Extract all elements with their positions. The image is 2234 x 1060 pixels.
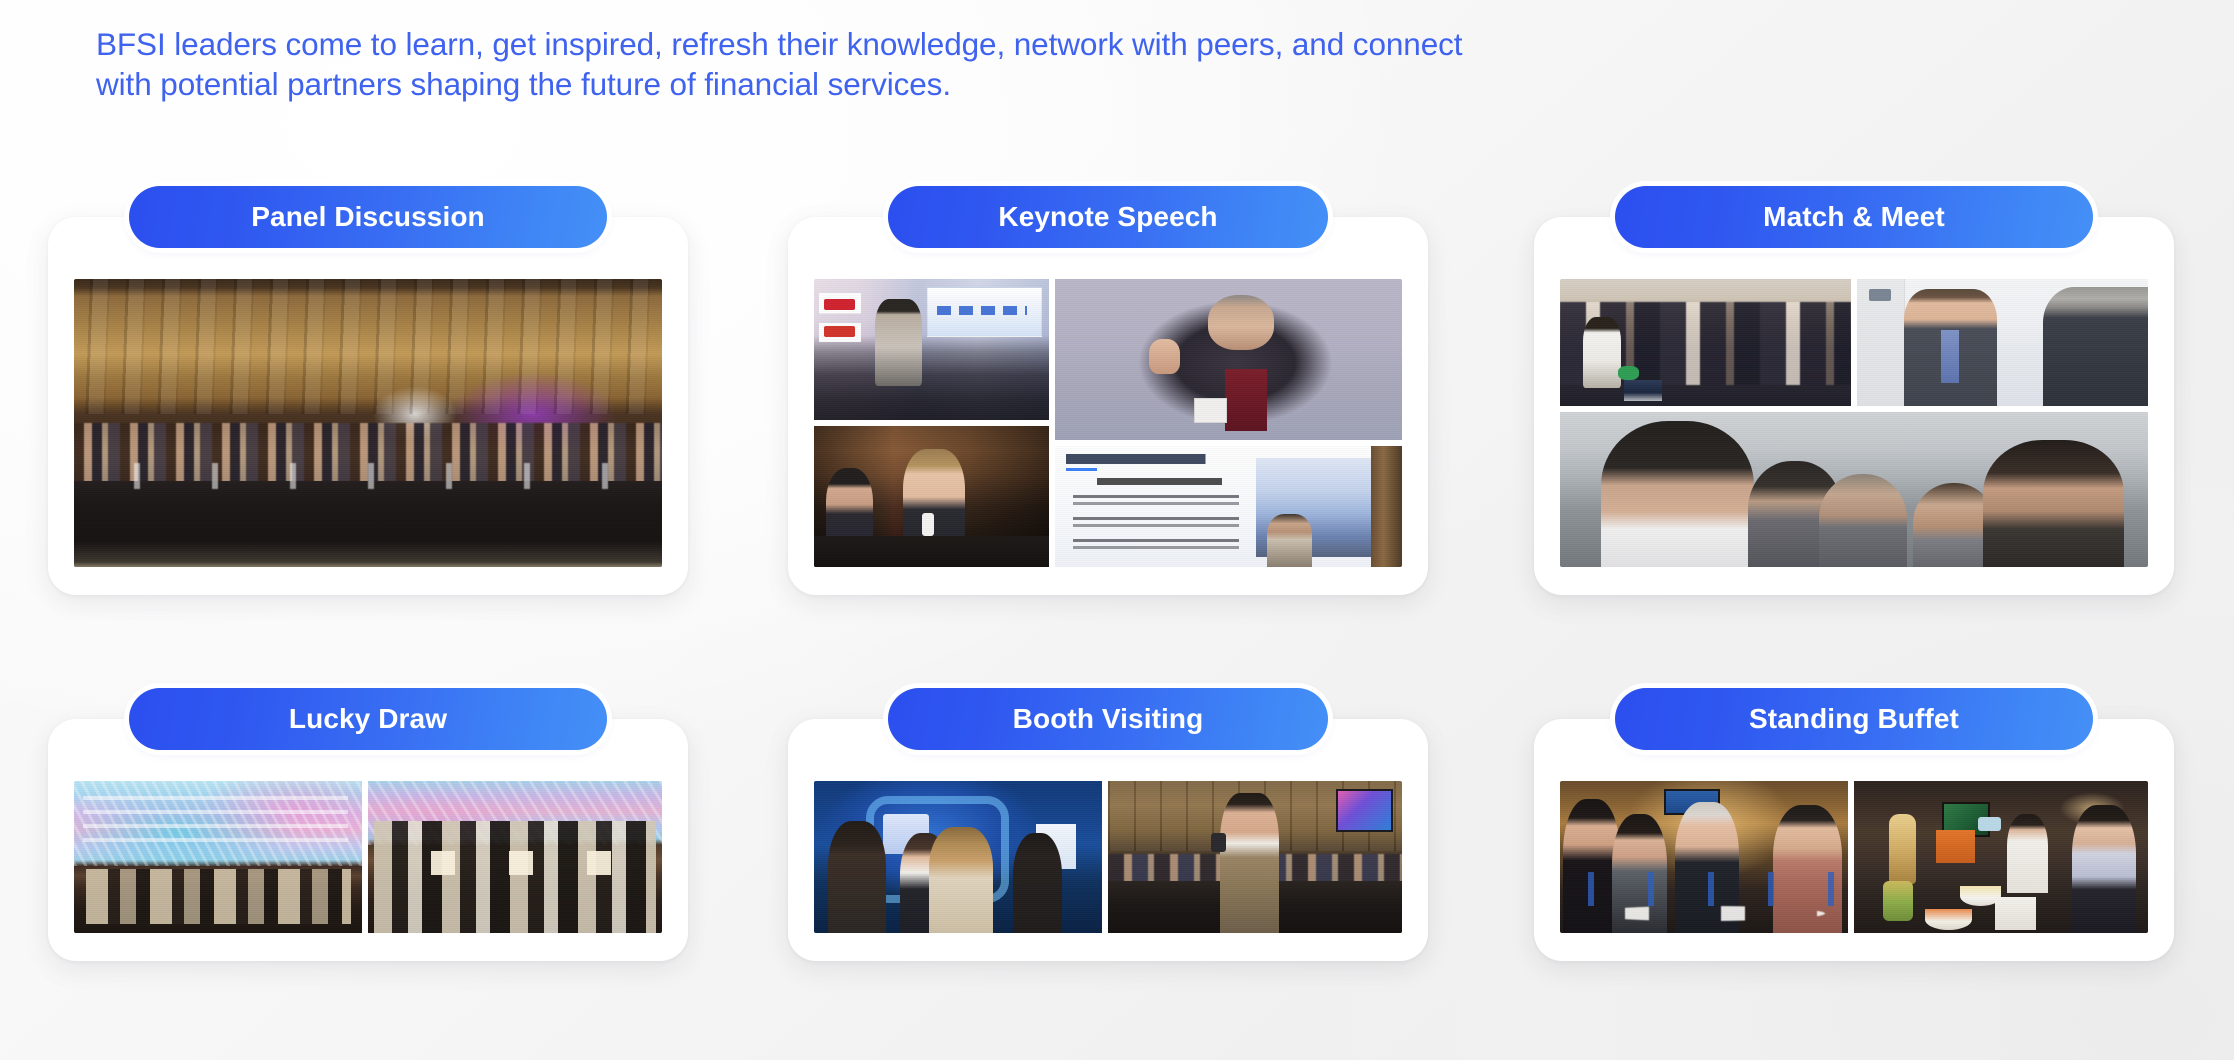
photo-one-on-one-meeting [1857, 279, 2148, 406]
mingling-guest-3 [1675, 802, 1738, 933]
close-conversation-photo [1560, 412, 2148, 567]
photo-delegates-mingling [1560, 781, 1848, 933]
stage-seated-panel [86, 869, 351, 924]
slide-room-wall [1371, 446, 1402, 567]
podium-speaker-photo [814, 279, 1049, 420]
keynote-speaker-photo [1055, 279, 1402, 440]
meeting-participant-facing [1904, 289, 1997, 406]
photo-award-winners [368, 781, 662, 933]
roaming-host-figure [1220, 793, 1279, 933]
photo-close-conversation [1560, 412, 2148, 567]
networking-crowd [1560, 302, 1851, 386]
buffet-jar-2 [1883, 881, 1912, 921]
photo-ballroom-audience [74, 279, 662, 567]
booth-visitor-2 [929, 827, 992, 933]
podium-presentation-screen [927, 287, 1042, 337]
session-room-screen [1336, 789, 1393, 833]
photo-roaming-host [1108, 781, 1402, 933]
collage-match-and-meet [1560, 279, 2148, 567]
conversation-person-1 [1601, 421, 1754, 567]
buffet-warm-light [2054, 790, 2130, 826]
stage-backdrop-text [83, 796, 348, 848]
card-match-and-meet [1534, 217, 2174, 595]
audience-table [814, 536, 1049, 567]
award-certificates [397, 851, 644, 875]
buffet-chafing-box [1936, 830, 1974, 863]
networking-floor-photo [1560, 279, 1851, 406]
ballroom-audience-photo [74, 279, 662, 567]
mingling-guest-1 [1563, 799, 1621, 933]
highlight-block-standing-buffet: Standing Buffet [1534, 688, 2174, 961]
conversation-person-3 [1819, 474, 1907, 567]
buffet-bowl-2 [1925, 909, 1972, 930]
collage-standing-buffet [1560, 781, 2148, 933]
exhibition-booth-photo [814, 781, 1102, 933]
one-on-one-meeting-photo [1857, 279, 2148, 406]
slide-title-text [1066, 454, 1260, 465]
photo-audience-question [814, 426, 1049, 567]
speaker-raised-finger [1149, 339, 1180, 374]
session-seated-delegates [1108, 854, 1402, 887]
pill-panel-discussion[interactable]: Panel Discussion [129, 186, 607, 248]
speaker-shirt [1225, 369, 1267, 430]
highlight-block-panel-discussion: Panel Discussion [48, 186, 688, 595]
card-panel-discussion [48, 217, 688, 595]
audience-figure-left [826, 468, 873, 547]
booth-visitor-1 [828, 821, 886, 933]
highlight-block-lucky-draw: Lucky Draw [48, 688, 688, 961]
highlight-block-keynote-speech: Keynote Speech [788, 186, 1428, 595]
highlight-block-booth-visiting: Booth Visiting [788, 688, 1428, 961]
roaming-host-photo [1108, 781, 1402, 933]
ballroom-glassware [98, 463, 639, 489]
green-signage [1618, 366, 1638, 380]
buffet-guest-serving [2072, 805, 2137, 933]
networking-attendee [1583, 317, 1621, 388]
booth-display-screen [883, 814, 929, 854]
sponsor-logo-wall [819, 293, 861, 372]
stage-panel-photo [74, 781, 362, 933]
audience-figure-right [903, 449, 964, 553]
slide-inset-image [1256, 458, 1395, 557]
photo-stage-panel [74, 781, 362, 933]
event-highlights-page: BFSI leaders come to learn, get inspired… [0, 0, 2234, 1060]
collage-keynote-speech [814, 279, 1402, 567]
collage-panel-discussion [74, 279, 662, 567]
slide-bullet-list [1073, 495, 1239, 551]
meeting-room-wall [1857, 279, 1905, 406]
buffet-jar-1 [1889, 814, 1915, 884]
pill-match-and-meet[interactable]: Match & Meet [1615, 186, 2093, 248]
pill-wrap-match-and-meet: Match & Meet [1534, 186, 2174, 248]
registration-laptop [1624, 380, 1662, 400]
guest-lanyards [1560, 872, 1848, 905]
meeting-participant-back [2043, 287, 2148, 406]
award-backdrop-graphic [368, 781, 662, 845]
roaming-host-microphone [1211, 833, 1226, 853]
pill-wrap-panel-discussion: Panel Discussion [48, 186, 688, 248]
guest-plates [1583, 906, 1825, 921]
pill-wrap-standing-buffet: Standing Buffet [1534, 688, 2174, 750]
highlight-grid: Panel Discussion Keyno [0, 0, 2234, 1060]
pill-lucky-draw[interactable]: Lucky Draw [129, 688, 607, 750]
reception-room-screen [1664, 789, 1720, 816]
slide-subtitle-text [1097, 478, 1236, 485]
award-winners-photo [368, 781, 662, 933]
keynote-left-column [814, 279, 1049, 567]
photo-exhibition-booth [814, 781, 1102, 933]
booth-visitor-3 [1013, 833, 1062, 933]
buffet-riser-stand [1995, 897, 2036, 930]
card-keynote-speech [788, 217, 1428, 595]
conversation-person-5 [1983, 440, 2124, 567]
ballroom-wall-pattern [74, 279, 662, 414]
buffet-counter-photo [1854, 781, 2148, 933]
speaker-badge [1194, 398, 1227, 423]
pill-standing-buffet[interactable]: Standing Buffet [1615, 688, 2093, 750]
buffet-guest-mask [1978, 817, 2002, 831]
mingling-guest-4 [1773, 805, 1842, 933]
card-standing-buffet [1534, 719, 2174, 961]
card-booth-visiting [788, 719, 1428, 961]
buffet-bowl-1 [1960, 886, 2001, 906]
pill-booth-visiting[interactable]: Booth Visiting [888, 688, 1328, 750]
stage-backdrop-graphic [74, 781, 362, 866]
keynote-right-column [1055, 279, 1402, 567]
ballroom-crowd [74, 423, 662, 492]
photo-keynote-speaker [1055, 279, 1402, 440]
conversation-person-4 [1913, 483, 1995, 567]
ballroom-tables [74, 481, 662, 567]
photo-podium-speaker [814, 279, 1049, 420]
podium-speaker-figure [875, 299, 922, 386]
buffet-staff [2007, 814, 2048, 893]
collage-lucky-draw [74, 781, 662, 933]
highlight-block-match-and-meet: Match & Meet [1534, 186, 2174, 595]
photo-networking-floor [1560, 279, 1851, 406]
booth-arch-frame [866, 796, 1009, 903]
session-room-wall [1108, 781, 1402, 851]
award-winners-row [374, 821, 656, 933]
photo-buffet-counter [1854, 781, 2148, 933]
slide-presenter-figure [1267, 514, 1312, 567]
mingling-guest-2 [1612, 814, 1667, 933]
buffet-menu-screen [1942, 802, 1990, 836]
collage-booth-visiting [814, 781, 1402, 933]
pill-wrap-lucky-draw: Lucky Draw [48, 688, 688, 750]
handheld-microphone [922, 513, 934, 536]
booth-host [900, 833, 949, 933]
speaker-head [1208, 295, 1274, 350]
conversation-person-2 [1748, 461, 1842, 567]
pill-keynote-speech[interactable]: Keynote Speech [888, 186, 1328, 248]
audience-question-photo [814, 426, 1049, 567]
presentation-slide-photo [1055, 446, 1402, 567]
meeting-participant-tie [1941, 330, 1958, 383]
card-lucky-draw [48, 719, 688, 961]
match-top-row [1560, 279, 2148, 406]
slide-accent-rule [1066, 468, 1097, 471]
photo-presentation-slide [1055, 446, 1402, 567]
booth-poster [1036, 824, 1076, 870]
delegates-mingling-photo [1560, 781, 1848, 933]
session-tables [1108, 881, 1402, 933]
